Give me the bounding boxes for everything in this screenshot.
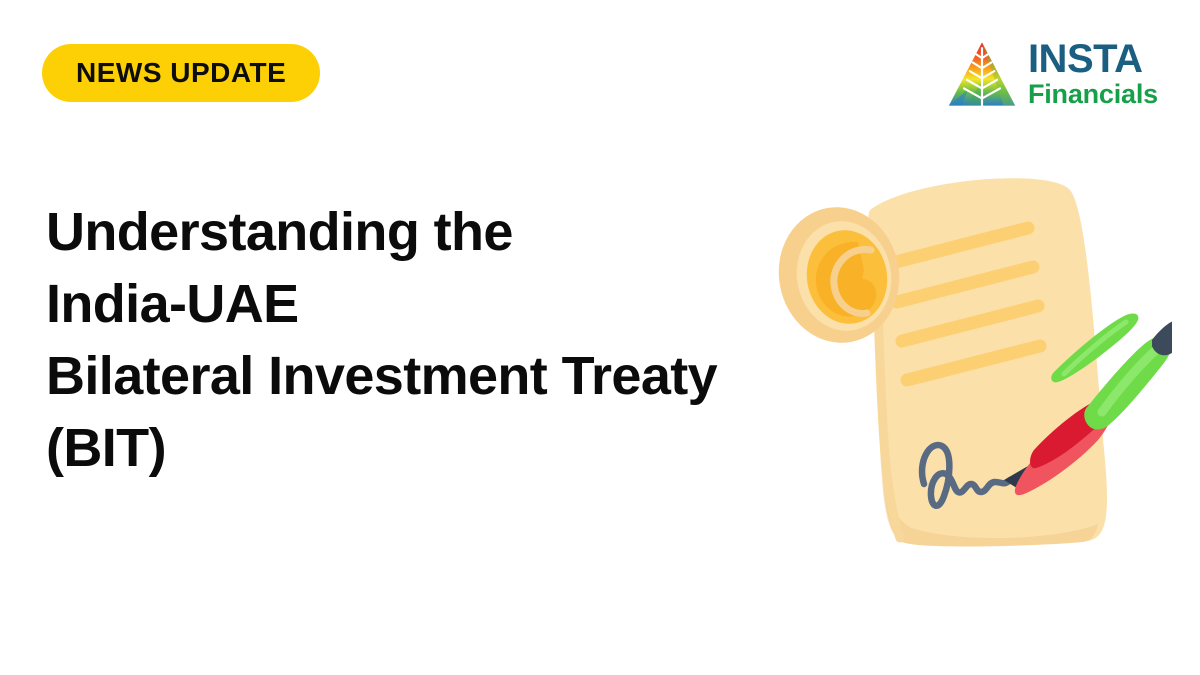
page-title-line-2: India-UAE <box>46 268 806 340</box>
contract-scroll-illustration <box>752 150 1172 560</box>
brand-logo: INSTA Financials <box>946 38 1158 110</box>
page-title: Understanding the India-UAE Bilateral In… <box>46 196 806 484</box>
news-update-badge: NEWS UPDATE <box>42 44 320 102</box>
news-update-banner: NEWS UPDATE <box>0 0 1200 675</box>
page-title-line-1: Understanding the <box>46 196 806 268</box>
page-title-line-4: (BIT) <box>46 412 806 484</box>
pyramid-tree-icon <box>946 38 1018 110</box>
brand-logo-wordmark: INSTA Financials <box>1028 40 1158 108</box>
brand-name-primary: INSTA <box>1028 40 1158 78</box>
brand-name-secondary: Financials <box>1028 80 1158 108</box>
page-title-line-3: Bilateral Investment Treaty <box>46 340 806 412</box>
news-update-badge-label: NEWS UPDATE <box>76 59 286 87</box>
